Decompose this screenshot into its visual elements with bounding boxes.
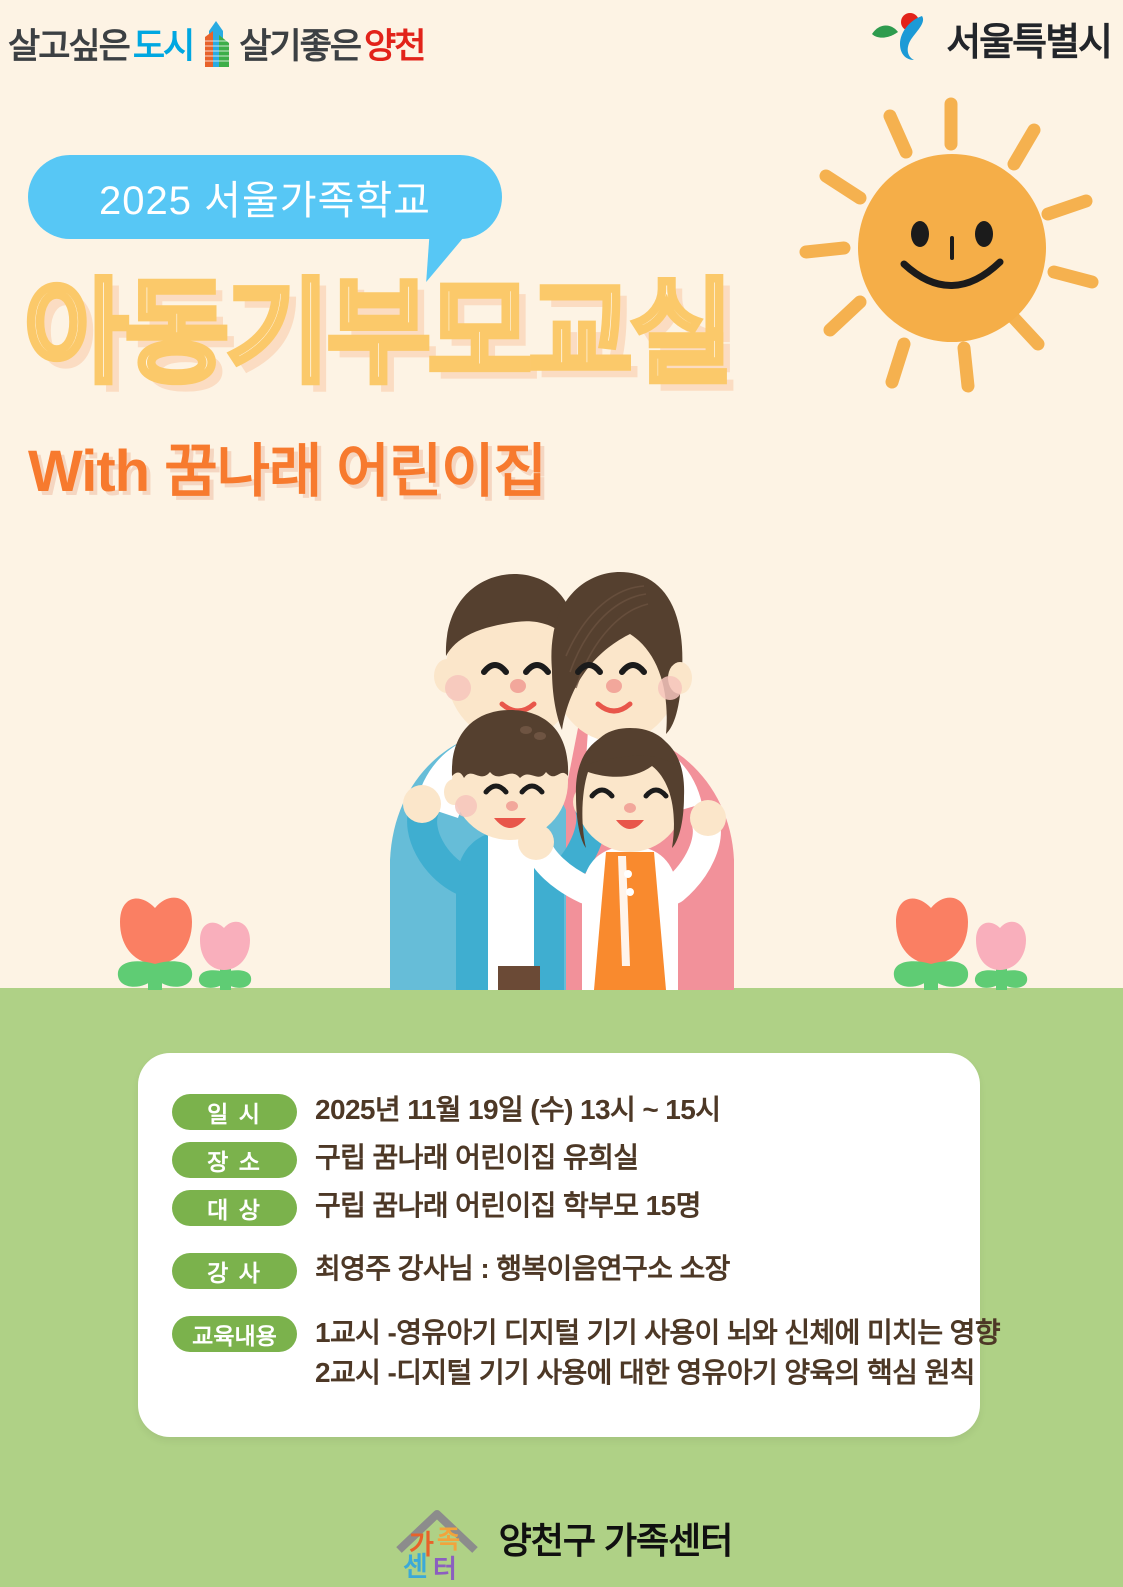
yangcheon-logo-part4: 양천 <box>364 18 424 69</box>
footer: 가 족 센 터 양천구 가족센터 <box>0 1489 1123 1587</box>
family-center-house-logo: 가 족 센 터 <box>391 1496 483 1580</box>
building-icon <box>199 21 233 67</box>
page-title: 아동기부모교실 <box>24 268 784 398</box>
seoul-logo-text: 서울특별시 <box>946 11 1111 66</box>
tulip-pair-icon <box>100 878 280 995</box>
info-row-curriculum: 교육내용 1교시 -영유아기 디지털 기기 사용이 뇌와 신체에 미치는 영향 … <box>172 1313 962 1393</box>
poster-root: 살고싶은 도시 살기좋은 양천 서울특별시 <box>0 0 1123 1587</box>
yangcheon-logo-part1: 살고싶은 <box>8 18 129 69</box>
smiling-sun-icon <box>786 86 1116 416</box>
info-label-lecturer: 강 사 <box>172 1253 297 1289</box>
yangcheon-logo-part3: 살기좋은 <box>239 18 360 69</box>
svg-text:터: 터 <box>433 1554 457 1580</box>
info-value-curriculum: 1교시 -영유아기 디지털 기기 사용이 뇌와 신체에 미치는 영향 2교시 -… <box>297 1313 1000 1393</box>
info-row-place: 장 소 구립 꿈나래 어린이집 유희실 <box>172 1139 962 1178</box>
info-label-target: 대 상 <box>172 1190 297 1226</box>
seoul-brand-icon <box>870 10 936 67</box>
program-badge: 2025 서울가족학교 <box>28 155 502 239</box>
info-value-lecturer: 최영주 강사님 : 행복이음연구소 소장 <box>315 1250 730 1288</box>
program-badge-label: 2025 서울가족학교 <box>99 168 431 226</box>
info-value-place: 구립 꿈나래 어린이집 유희실 <box>315 1139 638 1177</box>
yangcheon-logo: 살고싶은 도시 살기좋은 양천 <box>8 18 424 69</box>
info-row-datetime: 일 시 2025년 11월 19일 (수) 13시 ~ 15시 <box>172 1091 962 1130</box>
info-card: 일 시 2025년 11월 19일 (수) 13시 ~ 15시 장 소 구립 꿈… <box>138 1053 980 1437</box>
info-rows: 일 시 2025년 11월 19일 (수) 13시 ~ 15시 장 소 구립 꿈… <box>172 1091 962 1402</box>
yangcheon-logo-part2: 도시 <box>133 18 193 69</box>
svg-text:족: 족 <box>437 1526 460 1554</box>
footer-org-name: 양천구 가족센터 <box>499 1512 733 1564</box>
seoul-logo: 서울특별시 <box>870 10 1111 67</box>
info-label-place: 장 소 <box>172 1142 297 1178</box>
tulip-pair-icon <box>876 878 1056 995</box>
info-value-target: 구립 꿈나래 어린이집 학부모 15명 <box>315 1187 701 1225</box>
page-subtitle: With 꿈나래 어린이집 <box>28 424 546 508</box>
curriculum-line-1: 1교시 -영유아기 디지털 기기 사용이 뇌와 신체에 미치는 영향 <box>315 1313 1000 1353</box>
info-row-target: 대 상 구립 꿈나래 어린이집 학부모 15명 <box>172 1187 962 1226</box>
info-value-datetime: 2025년 11월 19일 (수) 13시 ~ 15시 <box>315 1091 720 1129</box>
info-label-datetime: 일 시 <box>172 1094 297 1130</box>
info-label-curriculum: 교육내용 <box>172 1316 297 1352</box>
svg-text:센: 센 <box>403 1552 428 1580</box>
curriculum-line-2: 2교시 -디지털 기기 사용에 대한 영유아기 양육의 핵심 원칙 <box>315 1353 1000 1393</box>
info-row-lecturer: 강 사 최영주 강사님 : 행복이음연구소 소장 <box>172 1250 962 1289</box>
family-of-four-hugging-illustration <box>330 560 790 990</box>
